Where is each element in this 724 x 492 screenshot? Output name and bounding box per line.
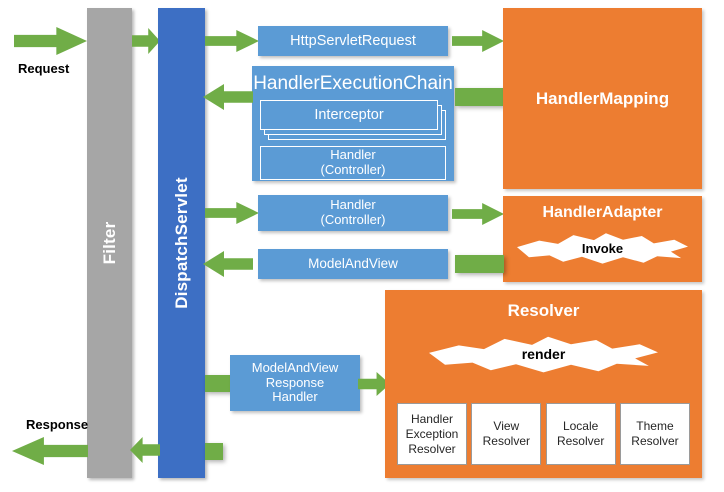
arrow-handleradapter-to-modelandview: [455, 255, 504, 273]
box-handler-adapter: HandlerAdapter Invoke: [503, 196, 702, 282]
box-handler-mapping: HandlerMapping: [503, 8, 702, 189]
arrow-dispatcher-to-mavresponsehandler: [205, 375, 232, 392]
handler-adapter-title: HandlerAdapter: [503, 196, 702, 222]
arrow-dispatcher-to-filter-response: [130, 437, 160, 463]
mav-response-handler-line1: ModelAndView: [252, 360, 338, 375]
chain-handler-line1: Handler: [330, 147, 376, 162]
arrow-filter-to-dispatcher: [132, 28, 160, 54]
box-http-servlet-request-label: HttpServletRequest: [290, 33, 416, 49]
box-mav-response-handler-label: ModelAndView Response Handler: [252, 361, 338, 405]
box-handler-execution-chain: HandlerExecutionChain Interceptor Handle…: [252, 66, 454, 181]
dispatcher-servlet-bar: DispatchServlet: [158, 8, 205, 478]
handler-controller-line1: Handler: [330, 197, 376, 212]
filter-bar: Filter: [87, 8, 132, 478]
resolver-sub-box-locale: Locale Resolver: [546, 403, 616, 465]
invoke-label: Invoke: [582, 241, 623, 256]
arrow-filter-to-response: [12, 437, 88, 465]
filter-bar-label: Filter: [100, 222, 120, 265]
request-label: Request: [18, 61, 69, 76]
chain-handler-box: Handler (Controller): [260, 146, 446, 180]
arrow-httpservletrequest-to-handlermapping: [452, 30, 504, 52]
chain-handler-label: Handler (Controller): [320, 148, 385, 178]
resolver-sub-box-view: View Resolver: [471, 403, 541, 465]
arrow-dispatcher-to-handler: [205, 202, 259, 224]
interceptor-label: Interceptor: [314, 107, 383, 123]
dispatcher-servlet-label: DispatchServlet: [172, 177, 192, 309]
arrow-handlermapping-to-chain: [455, 88, 504, 106]
resolver-sub-box-handler-exception: Handler Exception Resolver: [397, 403, 467, 465]
arrow-dispatcher-to-httpservletrequest: [205, 30, 259, 52]
chain-handler-line2: (Controller): [320, 162, 385, 177]
arrow-modelandview-to-dispatcher: [203, 251, 253, 277]
mav-response-handler-line3: Handler: [272, 389, 318, 404]
resolver-sub-box-row: Handler Exception Resolver View Resolver…: [397, 403, 690, 465]
render-starburst: render: [429, 327, 658, 381]
mav-response-handler-line2: Response: [266, 375, 325, 390]
box-model-and-view: ModelAndView: [258, 249, 448, 279]
box-model-and-view-label: ModelAndView: [308, 256, 398, 271]
arrow-chain-to-dispatcher: [203, 84, 253, 110]
arrow-resolver-to-dispatcher-return: [205, 443, 223, 460]
interceptor-stack-layer-1: Interceptor: [260, 100, 438, 130]
handler-controller-line2: (Controller): [320, 212, 385, 227]
render-label: render: [522, 346, 566, 362]
diagram-canvas: Request Filter DispatchServlet HttpServl…: [0, 0, 724, 492]
arrow-request-into-filter: [14, 27, 87, 55]
resolver-title: Resolver: [385, 290, 702, 321]
arrow-handler-to-handleradapter: [452, 203, 504, 225]
box-model-and-view-response-handler: ModelAndView Response Handler: [230, 355, 360, 411]
box-http-servlet-request: HttpServletRequest: [258, 26, 448, 56]
box-resolver: Resolver render Handler Exception Resolv…: [385, 290, 702, 478]
box-handler-controller: Handler (Controller): [258, 195, 448, 231]
box-handler-controller-label: Handler (Controller): [320, 198, 385, 227]
resolver-sub-box-theme: Theme Resolver: [620, 403, 690, 465]
handler-execution-chain-title: HandlerExecutionChain: [252, 71, 454, 100]
handler-mapping-title: HandlerMapping: [536, 89, 669, 109]
invoke-starburst: Invoke: [517, 225, 688, 271]
response-label: Response: [26, 417, 88, 432]
interceptor-stack: Interceptor: [260, 100, 446, 140]
